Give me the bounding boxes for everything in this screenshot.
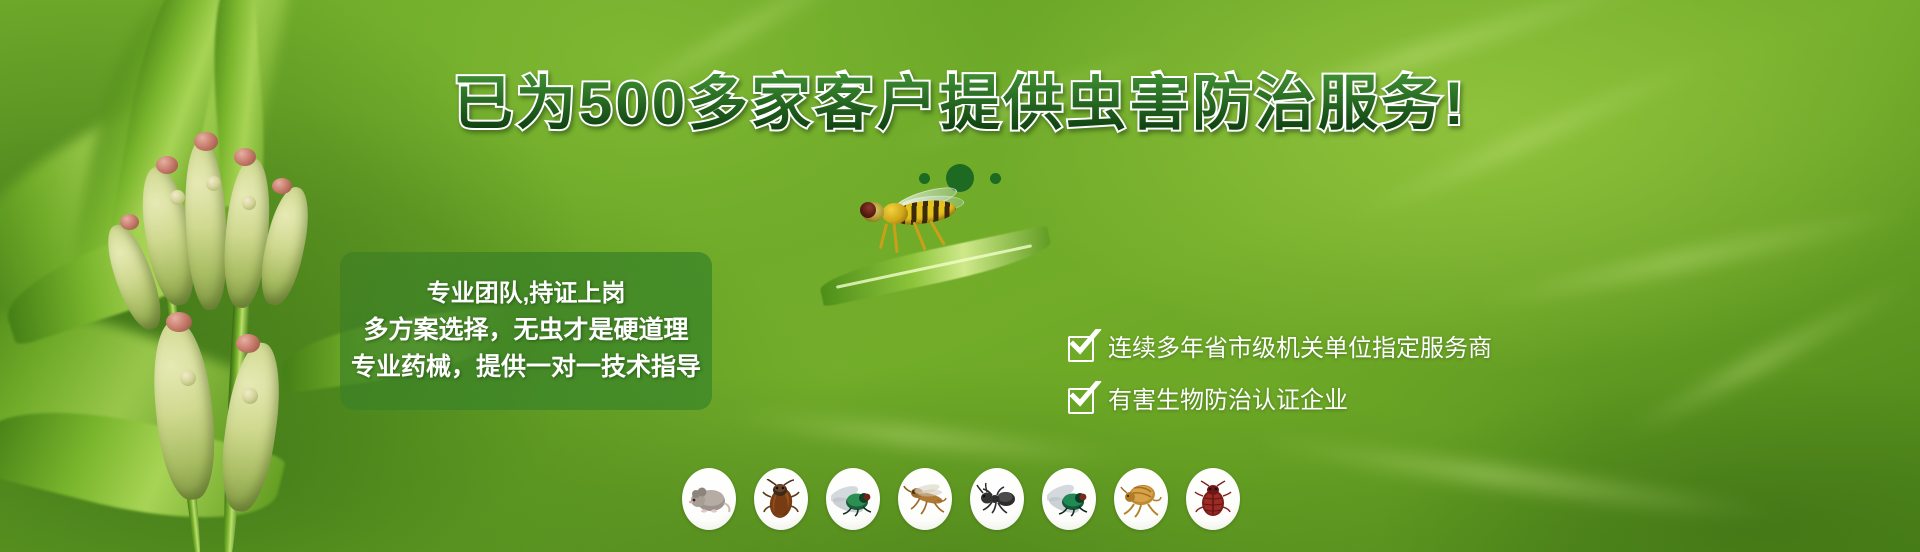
hoverfly-photo (800, 185, 1100, 315)
blowfly-icon[interactable] (1042, 468, 1096, 530)
hoverfly-thorax (882, 203, 908, 224)
hoverfly-eye (860, 202, 876, 218)
selling-point-line-1: 专业团队,持证上岗 (427, 282, 626, 306)
list-item: 有害生物防治认证企业 (1068, 388, 1492, 414)
list-item: 连续多年省市级机关单位指定服务商 (1068, 336, 1492, 362)
ant-icon[interactable] (970, 468, 1024, 530)
pest-type-icon-row (682, 468, 1240, 530)
certification-list: 连续多年省市级机关单位指定服务商 有害生物防治认证企业 (1068, 336, 1492, 414)
certification-text: 有害生物防治认证企业 (1108, 389, 1348, 413)
certification-text: 连续多年省市级机关单位指定服务商 (1108, 337, 1492, 361)
hoverfly-leg-4 (929, 220, 946, 246)
fly-icon[interactable] (826, 468, 880, 530)
mosquito-icon[interactable] (898, 468, 952, 530)
selling-point-line-3: 专业药械，提供一对一技术指导 (351, 355, 701, 380)
hoverfly-icon (860, 197, 956, 227)
hoverfly-leg-3 (912, 222, 926, 251)
hoverfly-leg-1 (879, 223, 888, 249)
checkbox-checked-icon (1068, 388, 1094, 414)
pest-control-hero-banner: 已为500多家客户提供虫害防治服务! 已为500多家客户提供虫害防治服务! 专业… (0, 0, 1920, 552)
flea-icon[interactable] (1114, 468, 1168, 530)
page-title: 已为500多家客户提供虫害防治服务! (0, 74, 1920, 134)
selling-points-panel: 专业团队,持证上岗 多方案选择，无虫才是硬道理 专业药械，提供一对一技术指导 (340, 252, 712, 410)
bedbug-icon[interactable] (1186, 468, 1240, 530)
dot-small-left (919, 173, 930, 184)
cockroach-icon[interactable] (754, 468, 808, 530)
selling-point-line-2: 多方案选择，无虫才是硬道理 (363, 318, 688, 343)
hoverfly-leg-2 (892, 223, 898, 253)
mouse-icon[interactable] (682, 468, 736, 530)
checkbox-checked-icon (1068, 336, 1094, 362)
dot-small-right (990, 173, 1001, 184)
